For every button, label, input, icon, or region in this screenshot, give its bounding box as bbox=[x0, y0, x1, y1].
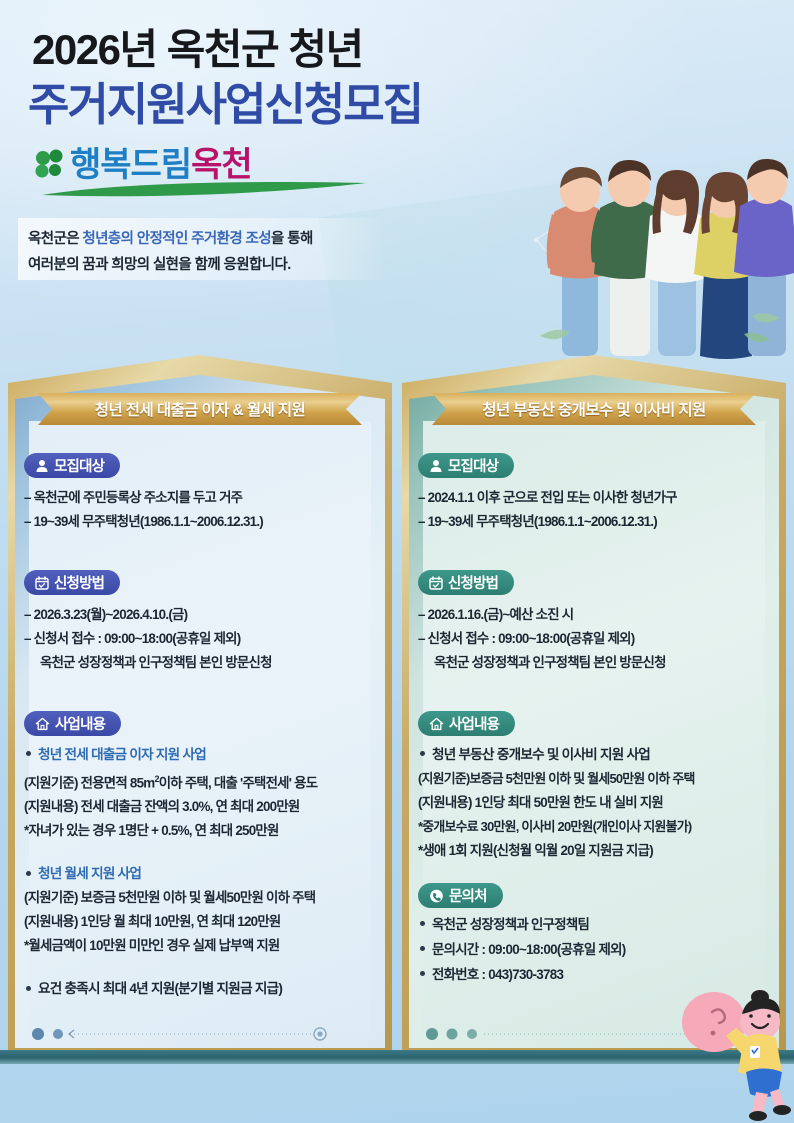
card-left-ribbon: 청년 전세 대출금 이자 & 월세 지원 bbox=[38, 393, 362, 425]
bullet-dot bbox=[420, 751, 425, 756]
card-right-g1-line-1: (지원기준)보증금 5천만원 이하 및 월세50만원 이하 주택 bbox=[418, 767, 774, 791]
card-left-ribbon-title: 청년 전세 대출금 이자 & 월세 지원 bbox=[95, 398, 305, 420]
person-icon bbox=[429, 459, 443, 473]
house-icon bbox=[35, 717, 50, 731]
card-left-apply-indent: 옥천군 성장정책과 인구정책팀 본인 방문신청 bbox=[24, 651, 380, 675]
mascot-bun bbox=[751, 990, 769, 1004]
card-left-group-1-head: 청년 전세 대출금 이자 지원 사업 bbox=[24, 742, 380, 767]
card-left-group-2-head-text: 청년 월세 지원 사업 bbox=[38, 866, 141, 881]
badge-content-left-label: 사업내용 bbox=[55, 713, 105, 734]
swoosh-icon bbox=[40, 179, 370, 201]
card-left-g1-line-3: *자녀가 있는 경우 1명단 + 0.5%, 연 최대 250만원 bbox=[24, 819, 380, 843]
card-right-contact-line-3: 전화번호 : 043)730-3783 bbox=[418, 962, 774, 987]
young-people-illustration bbox=[534, 120, 794, 365]
badge-target-right: 모집대상 bbox=[418, 453, 514, 478]
card-right-group-1-head-text: 청년 부동산 중개보수 및 이사비 지원 사업 bbox=[432, 747, 650, 762]
card-right-ribbon: 청년 부동산 중개보수 및 이사비 지원 bbox=[432, 393, 756, 425]
badge-target-right-label: 모집대상 bbox=[448, 455, 498, 476]
card-right-ribbon-title: 청년 부동산 중개보수 및 이사비 지원 bbox=[482, 398, 705, 420]
card-left-section-target: 모집대상 – 옥천군에 주민등록상 주소지를 두고 거주 – 19~39세 무주… bbox=[24, 453, 380, 534]
intro-line-1: 옥천군은 청년층의 안정적인 주거환경 조성을 통해 bbox=[28, 226, 378, 252]
bullet-dot bbox=[420, 946, 425, 951]
card-left-g2-line-3: *월세금액이 10만원 미만인 경우 실제 납부액 지원 bbox=[24, 934, 380, 958]
poster-header: 2026년 옥천군 청년 주거지원사업신청모집 행복드림옥천 옥천군은 청년층의… bbox=[0, 0, 794, 360]
card-right-g1-line-3: *중개보수료 30만원, 이사비 20만원(개인이사 지원불가) bbox=[418, 815, 774, 839]
person-icon bbox=[35, 459, 49, 473]
card-jeonse-wolse: 청년 전세 대출금 이자 & 월세 지원 모집대상 – 옥천군에 주민등록상 주… bbox=[8, 355, 392, 1055]
card-left-group-3-head-text: 요건 충족시 최대 4년 지원(분기별 지원금 지급) bbox=[38, 981, 282, 996]
card-right-target-line-1: – 2024.1.1 이후 군으로 전입 또는 이사한 청년가구 bbox=[418, 486, 774, 510]
card-right-g1-line-4: *생애 1회 지원(신청월 익월 20일 지원금 지급) bbox=[418, 839, 774, 863]
badge-apply-right: 신청방법 bbox=[418, 570, 514, 595]
card-left-g2-line-2: (지원내용) 1인당 월 최대 10만원, 연 최대 120만원 bbox=[24, 910, 380, 934]
intro-line-1-highlight: 청년층의 안정적인 주거환경 조성 bbox=[82, 231, 271, 247]
card-right-apply-indent: 옥천군 성장정책과 인구정책팀 본인 방문신청 bbox=[418, 651, 774, 675]
card-left-g1-line-1: (지원기준) 전용면적 85m2이하 주택, 대출 '주택전세' 용도 bbox=[24, 767, 380, 795]
card-right-contact-text-2: 문의시간 : 09:00~18:00(공휴일 제외) bbox=[432, 942, 626, 957]
okcheon-logo: 행복드림옥천 bbox=[30, 135, 360, 199]
badge-apply-right-label: 신청방법 bbox=[448, 572, 498, 593]
house-icon bbox=[429, 717, 444, 731]
badge-target-left-label: 모집대상 bbox=[54, 455, 104, 476]
card-left-section-apply: 신청방법 – 2026.3.23(월)~2026.4.10.(금) – 신청서 … bbox=[24, 570, 380, 675]
card-right-group-1-head: 청년 부동산 중개보수 및 이사비 지원 사업 bbox=[418, 742, 774, 767]
badge-contact-right: 문의처 bbox=[418, 883, 503, 908]
intro-description: 옥천군은 청년층의 안정적인 주거환경 조성을 통해 여러분의 꿈과 희망의 실… bbox=[18, 218, 388, 280]
card-left-target-line-1: – 옥천군에 주민등록상 주소지를 두고 거주 bbox=[24, 486, 380, 510]
card-right-target-line-2: – 19~39세 무주택청년(1986.1.1~2006.12.31.) bbox=[418, 510, 774, 534]
intro-line-1-post: 을 통해 bbox=[271, 231, 313, 247]
card-right-apply-line-2: – 신청서 접수 : 09:00~18:00(공휴일 제외) bbox=[418, 627, 774, 651]
card-right-g1-line-2: (지원내용) 1인당 최대 50만원 한도 내 실비 지원 bbox=[418, 791, 774, 815]
card-right-contact-line-1: 옥천군 성장정책과 인구정책팀 bbox=[418, 912, 774, 937]
page-title-line2: 주거지원사업신청모집 bbox=[28, 68, 422, 133]
card-right-section-apply: 신청방법 – 2026.1.16.(금)~예산 소진 시 – 신청서 접수 : … bbox=[418, 570, 774, 675]
bullet-dot bbox=[26, 986, 31, 991]
badge-contact-right-label: 문의처 bbox=[449, 885, 487, 906]
card-left-group-3-head: 요건 충족시 최대 4년 지원(분기별 지원금 지급) bbox=[24, 976, 380, 1001]
badge-content-right: 사업내용 bbox=[418, 711, 515, 736]
card-right-section-content: 사업내용 청년 부동산 중개보수 및 이사비 지원 사업 (지원기준)보증금 5… bbox=[418, 711, 774, 863]
mascot-illustration bbox=[674, 988, 792, 1123]
phone-icon bbox=[429, 889, 444, 903]
badge-target-left: 모집대상 bbox=[24, 453, 120, 478]
card-right-section-target: 모집대상 – 2024.1.1 이후 군으로 전입 또는 이사한 청년가구 – … bbox=[418, 453, 774, 534]
card-left-g2-line-1: (지원기준) 보증금 5천만원 이하 및 월세50만원 이하 주택 bbox=[24, 886, 380, 910]
card-left-group-2-head: 청년 월세 지원 사업 bbox=[24, 861, 380, 886]
bullet-dot bbox=[420, 971, 425, 976]
card-right-contact-text-1: 옥천군 성장정책과 인구정책팀 bbox=[432, 917, 589, 932]
card-right-apply-line-1: – 2026.1.16.(금)~예산 소진 시 bbox=[418, 603, 774, 627]
clover-icon bbox=[34, 149, 68, 183]
bullet-dot bbox=[26, 871, 31, 876]
card-jungae-isabi: 청년 부동산 중개보수 및 이사비 지원 모집대상 – 2024.1.1 이후 … bbox=[402, 355, 786, 1055]
badge-apply-left-label: 신청방법 bbox=[54, 572, 104, 593]
card-left-apply-line-2: – 신청서 접수 : 09:00~18:00(공휴일 제외) bbox=[24, 627, 380, 651]
intro-line-2: 여러분의 꿈과 희망의 실현을 함께 응원합니다. bbox=[28, 252, 378, 278]
card-left-g1-line-2: (지원내용) 전세 대출금 잔액의 3.0%, 연 최대 200만원 bbox=[24, 795, 380, 819]
card-left-group-1-head-text: 청년 전세 대출금 이자 지원 사업 bbox=[38, 747, 206, 762]
bullet-dot bbox=[26, 751, 31, 756]
card-left-section-content: 사업내용 청년 전세 대출금 이자 지원 사업 (지원기준) 전용면적 85m2… bbox=[24, 711, 380, 1001]
bullet-dot bbox=[420, 921, 425, 926]
badge-content-right-label: 사업내용 bbox=[449, 713, 499, 734]
calendar-icon bbox=[35, 576, 49, 590]
card-right-section-contact: 문의처 옥천군 성장정책과 인구정책팀 문의시간 : 09:00~18:00(공… bbox=[418, 883, 774, 987]
card-left-apply-line-1: – 2026.3.23(월)~2026.4.10.(금) bbox=[24, 603, 380, 627]
card-left-dots-decoration bbox=[30, 1027, 330, 1041]
card-right-contact-text-3: 전화번호 : 043)730-3783 bbox=[432, 967, 563, 982]
calendar-icon bbox=[429, 576, 443, 590]
card-right-contact-line-2: 문의시간 : 09:00~18:00(공휴일 제외) bbox=[418, 937, 774, 962]
card-left-target-line-2: – 19~39세 무주택청년(1986.1.1~2006.12.31.) bbox=[24, 510, 380, 534]
intro-line-1-pre: 옥천군은 bbox=[28, 231, 82, 247]
badge-apply-left: 신청방법 bbox=[24, 570, 120, 595]
badge-content-left: 사업내용 bbox=[24, 711, 121, 736]
